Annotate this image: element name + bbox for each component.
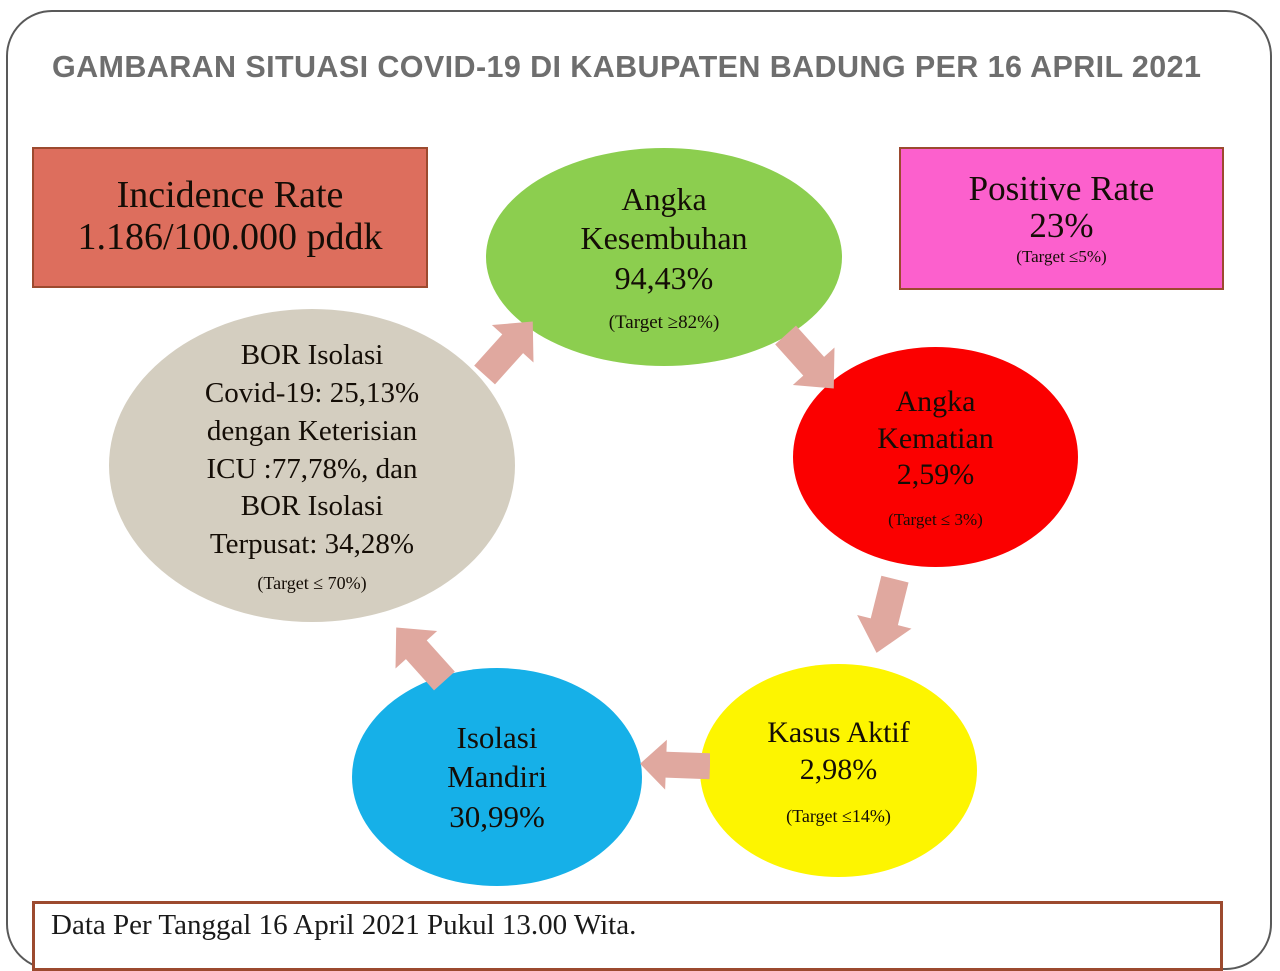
positive-rate-box: Positive Rate 23% (Target ≤5%) [899,147,1224,290]
bor-line3: dengan Keterisian [207,413,417,451]
recovery-rate-target: (Target ≥82%) [609,312,720,334]
footer-box: Data Per Tanggal 16 April 2021 Pukul 13.… [32,901,1223,971]
death-rate-value: 2,59% [897,457,975,494]
positive-rate-label: Positive Rate [969,170,1155,207]
positive-rate-value: 23% [1029,207,1093,246]
bor-line6: Terpusat: 34,28% [210,526,414,564]
self-isolation-value: 30,99% [449,797,545,836]
death-rate-label-line2: Kematian [877,421,994,458]
active-cases-ellipse: Kasus Aktif 2,98% (Target ≤14%) [700,664,977,877]
bor-line5: BOR Isolasi [241,488,384,526]
death-rate-label-line1: Angka [896,384,976,421]
bor-isolation-ellipse: BOR Isolasi Covid-19: 25,13% dengan Kete… [109,309,515,622]
self-isolation-label-line1: Isolasi [457,718,538,757]
arrow-kematian-to-kasus-icon [838,570,934,660]
recovery-rate-value: 94,43% [615,259,714,298]
bor-line4: ICU :77,78%, dan [206,451,417,489]
incidence-rate-label: Incidence Rate [117,176,344,216]
death-rate-target: (Target ≤ 3%) [888,510,983,530]
slide-canvas: GAMBARAN SITUASI COVID-19 DI KABUPATEN B… [0,0,1280,938]
self-isolation-label-line2: Mandiri [447,757,547,796]
page-title: GAMBARAN SITUASI COVID-19 DI KABUPATEN B… [52,50,1212,85]
incidence-rate-value: 1.186/100.000 pddk [77,216,382,259]
bor-line1: BOR Isolasi [241,337,384,375]
death-rate-ellipse: Angka Kematian 2,59% (Target ≤ 3%) [793,347,1078,567]
active-cases-target: (Target ≤14%) [786,806,891,827]
self-isolation-ellipse: Isolasi Mandiri 30,99% [352,668,642,886]
recovery-rate-label-line1: Angka [621,180,706,219]
bor-target: (Target ≤ 70%) [257,573,366,594]
active-cases-label: Kasus Aktif [767,714,910,751]
recovery-rate-ellipse: Angka Kesembuhan 94,43% (Target ≥82%) [486,148,842,366]
recovery-rate-label-line2: Kesembuhan [580,219,747,258]
bor-line2: Covid-19: 25,13% [205,375,419,413]
active-cases-value: 2,98% [800,751,878,788]
incidence-rate-box: Incidence Rate 1.186/100.000 pddk [32,147,428,288]
footer-text: Data Per Tanggal 16 April 2021 Pukul 13.… [51,909,636,942]
positive-rate-target: (Target ≤5%) [1016,247,1106,267]
